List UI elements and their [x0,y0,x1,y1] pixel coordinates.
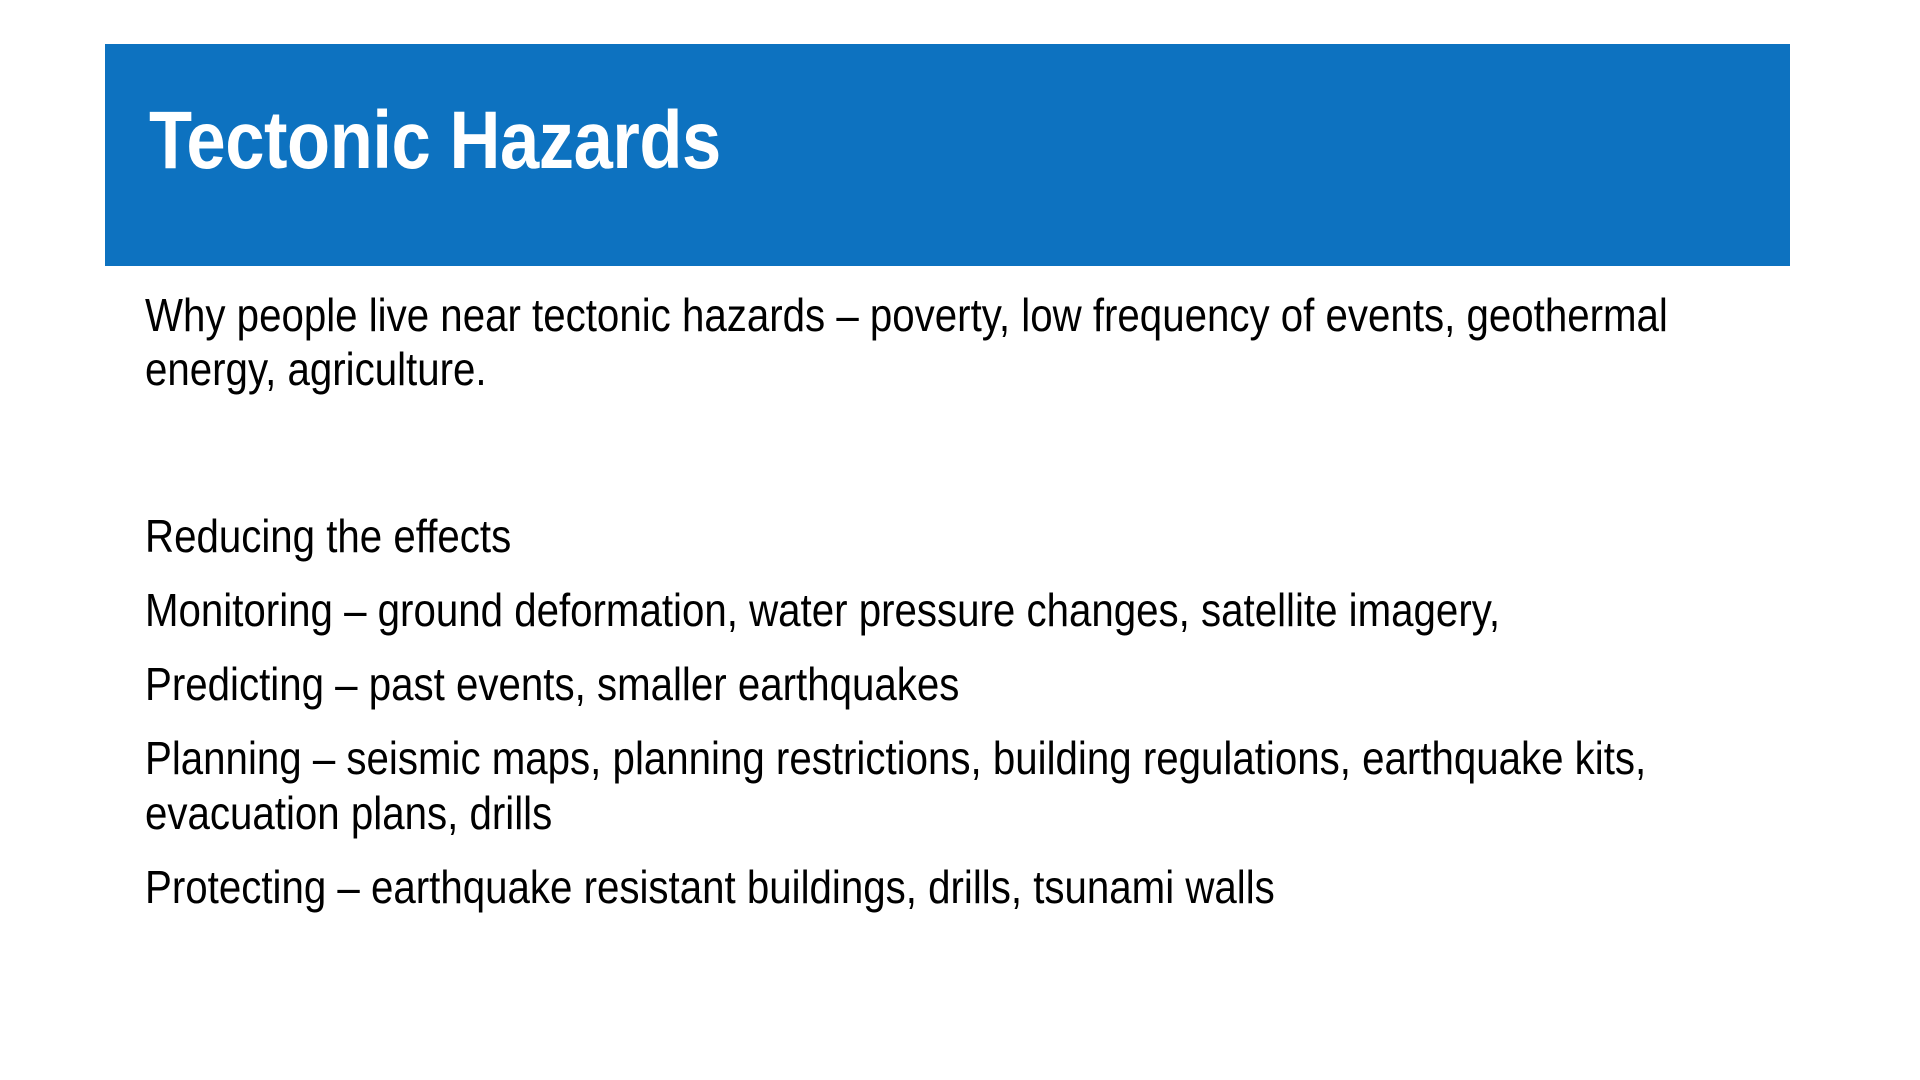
presentation-slide: Tectonic Hazards Why people live near te… [0,0,1920,1080]
body-paragraph-blank [145,417,1764,489]
title-banner: Tectonic Hazards [105,44,1790,266]
body-paragraph-monitoring: Monitoring – ground deformation, water p… [145,583,1764,637]
body-paragraph-why-people-live-near-tectonic-hazards: Why people live near tectonic hazards – … [145,288,1764,397]
slide-body: Why people live near tectonic hazards – … [145,288,1765,914]
slide-title: Tectonic Hazards [149,100,721,182]
body-paragraph-reducing-the-effects: Reducing the effects [145,509,1764,563]
body-paragraph-planning: Planning – seismic maps, planning restri… [145,731,1764,840]
body-paragraph-predicting: Predicting – past events, smaller earthq… [145,657,1764,711]
body-paragraph-protecting: Protecting – earthquake resistant buildi… [145,860,1764,914]
